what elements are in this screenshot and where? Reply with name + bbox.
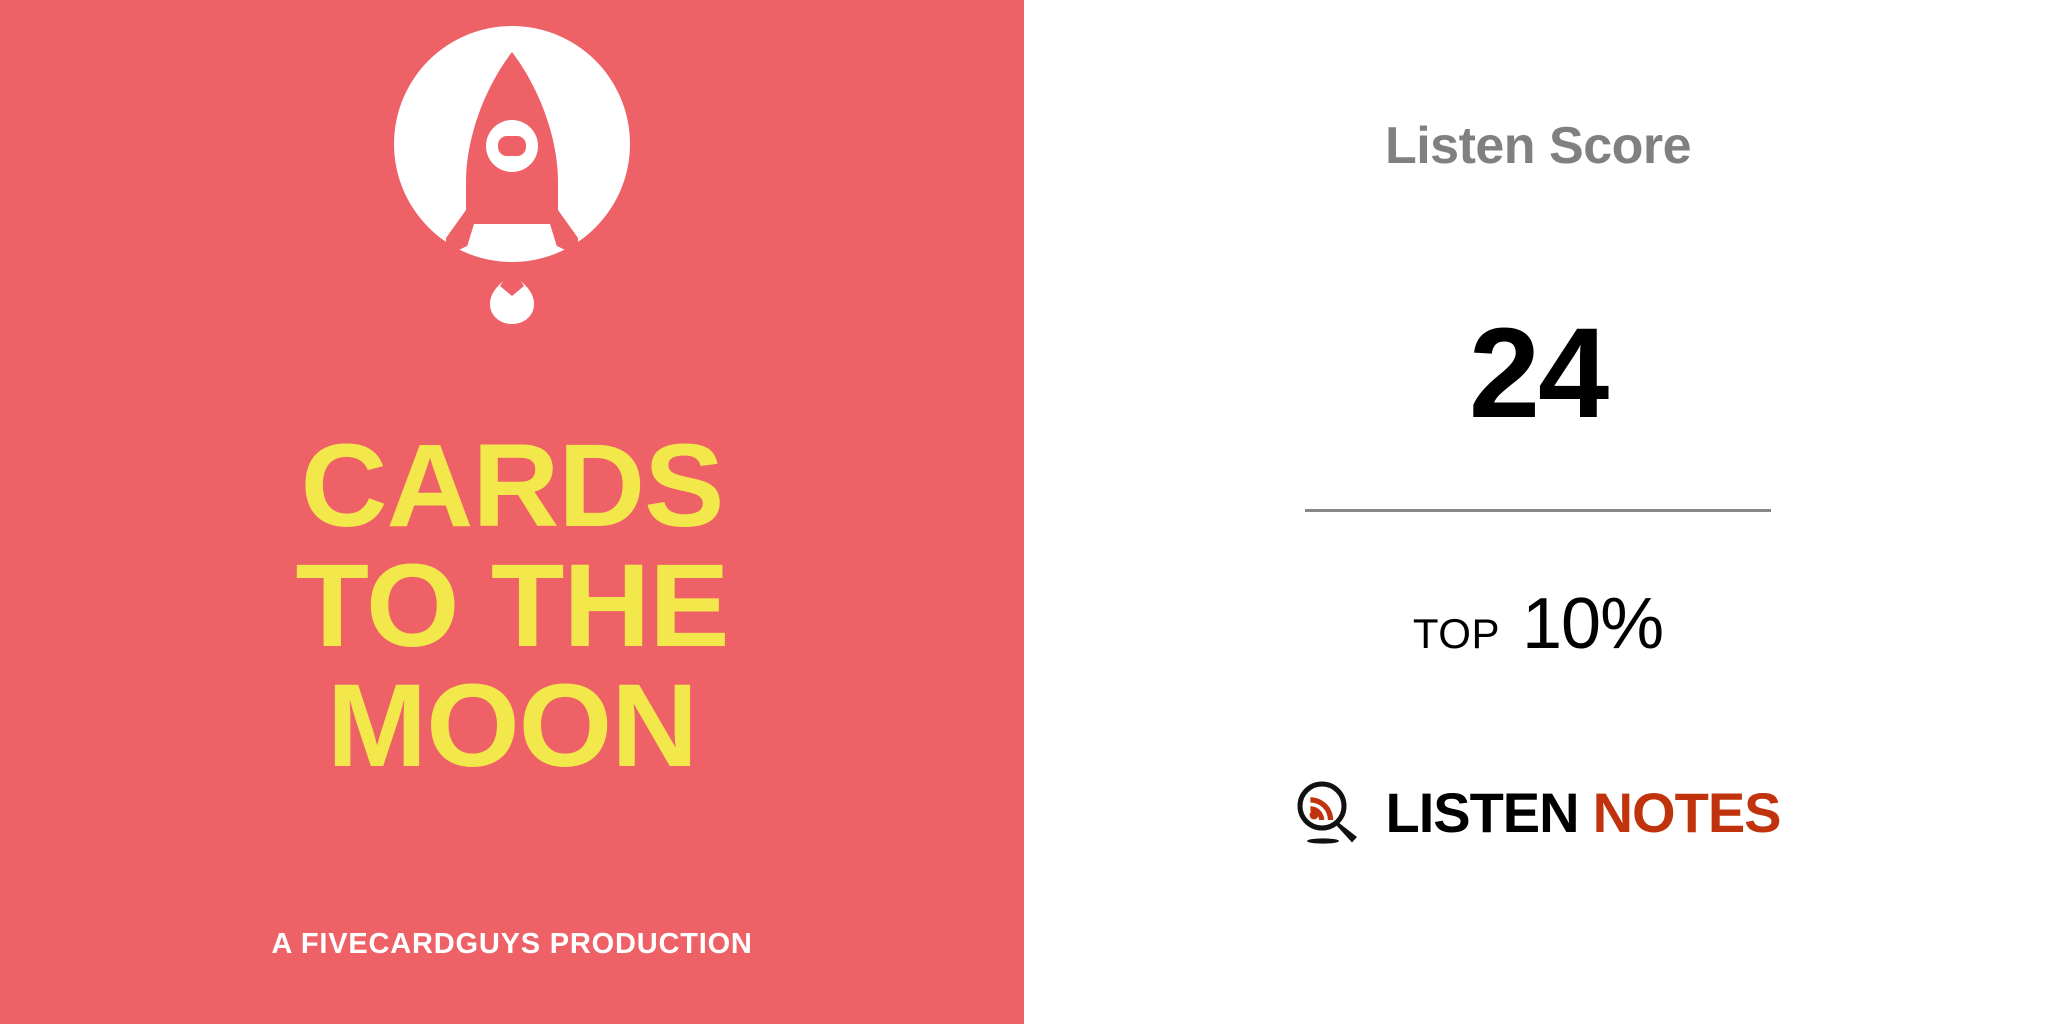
- podcast-credit: A FIVECARDGUYS PRODUCTION: [0, 928, 1024, 961]
- podcast-title-line-3: MOON: [0, 670, 1024, 782]
- rank-percent: 10%: [1522, 584, 1663, 664]
- listen-notes-wordmark: LISTENNOTES: [1385, 785, 1780, 841]
- listen-notes-logo[interactable]: LISTENNOTES: [1305, 779, 1771, 847]
- score-divider: [1305, 509, 1771, 512]
- podcast-title: CARDS TO THE MOON: [0, 430, 1024, 782]
- listen-score-panel: Listen Score 24 TOP10%: [1024, 0, 2048, 1024]
- listen-score-rank: TOP10%: [1305, 588, 1771, 660]
- brand-word-listen: LISTEN: [1385, 781, 1578, 844]
- podcast-cover-art: CARDS TO THE MOON A FIVECARDGUYS PRODUCT…: [0, 0, 1024, 1024]
- listen-score-card: CARDS TO THE MOON A FIVECARDGUYS PRODUCT…: [0, 0, 2048, 1024]
- podcast-title-line-2: TO THE: [0, 550, 1024, 662]
- podcast-logo: [0, 24, 1024, 324]
- brand-word-notes: NOTES: [1593, 781, 1781, 844]
- listen-score-content: Listen Score 24 TOP10%: [1305, 0, 1771, 1024]
- listen-score-value: 24: [1305, 310, 1771, 438]
- podcast-title-line-1: CARDS: [0, 430, 1024, 542]
- rocket-in-circle-icon: [362, 24, 662, 324]
- listen-score-label: Listen Score: [1305, 120, 1771, 172]
- rank-label: TOP: [1413, 610, 1500, 657]
- magnifying-glass-rss-icon: [1295, 779, 1363, 847]
